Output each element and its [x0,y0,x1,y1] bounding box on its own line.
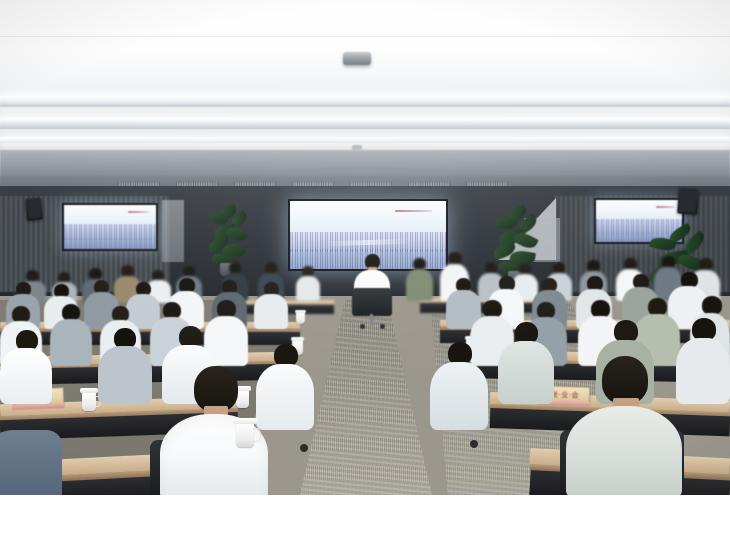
attendee [50,304,92,364]
ceiling-projector [343,52,371,65]
white-margin-bottom [0,495,730,548]
conference-room-photo: 张·业·会 [0,0,730,495]
wall-speaker-left [25,197,43,220]
wall-speaker-right [677,187,699,214]
screen-logo-overlay [395,210,432,212]
attendee-foreground-right [566,356,682,495]
attendee [254,282,288,328]
screen-cityscape-near [64,238,156,249]
attendee-foreground-left [0,430,70,495]
screen-logo-overlay [656,206,675,208]
attendee [498,322,554,402]
speaker-grille [27,200,41,219]
attendee [430,342,488,428]
screen-sky [596,200,682,219]
lidded-teacup [82,392,96,411]
lidded-teacup [236,423,254,447]
chair-caster [300,444,308,452]
task-chair [352,288,392,316]
ceiling-light-strip [0,137,730,143]
speaker-grille [679,189,696,212]
chair-caster [470,440,478,448]
ceiling-light-strip [0,96,730,103]
screen-sky [64,205,156,225]
attendee [676,318,730,402]
screen-sky [290,201,446,232]
attendee [0,330,52,402]
left-led-screen [62,203,158,251]
ceiling-seam [0,36,730,37]
screen-logo-overlay [128,211,148,213]
attendee [406,258,433,300]
lidded-teacup [296,312,305,324]
screenshot-root: 张·业·会 [0,0,730,548]
attendee [98,328,152,402]
left-wall-light-panel [162,200,184,262]
ceiling-light-housing [0,124,730,129]
attendee [296,266,320,300]
ceiling-light-housing [0,103,730,107]
